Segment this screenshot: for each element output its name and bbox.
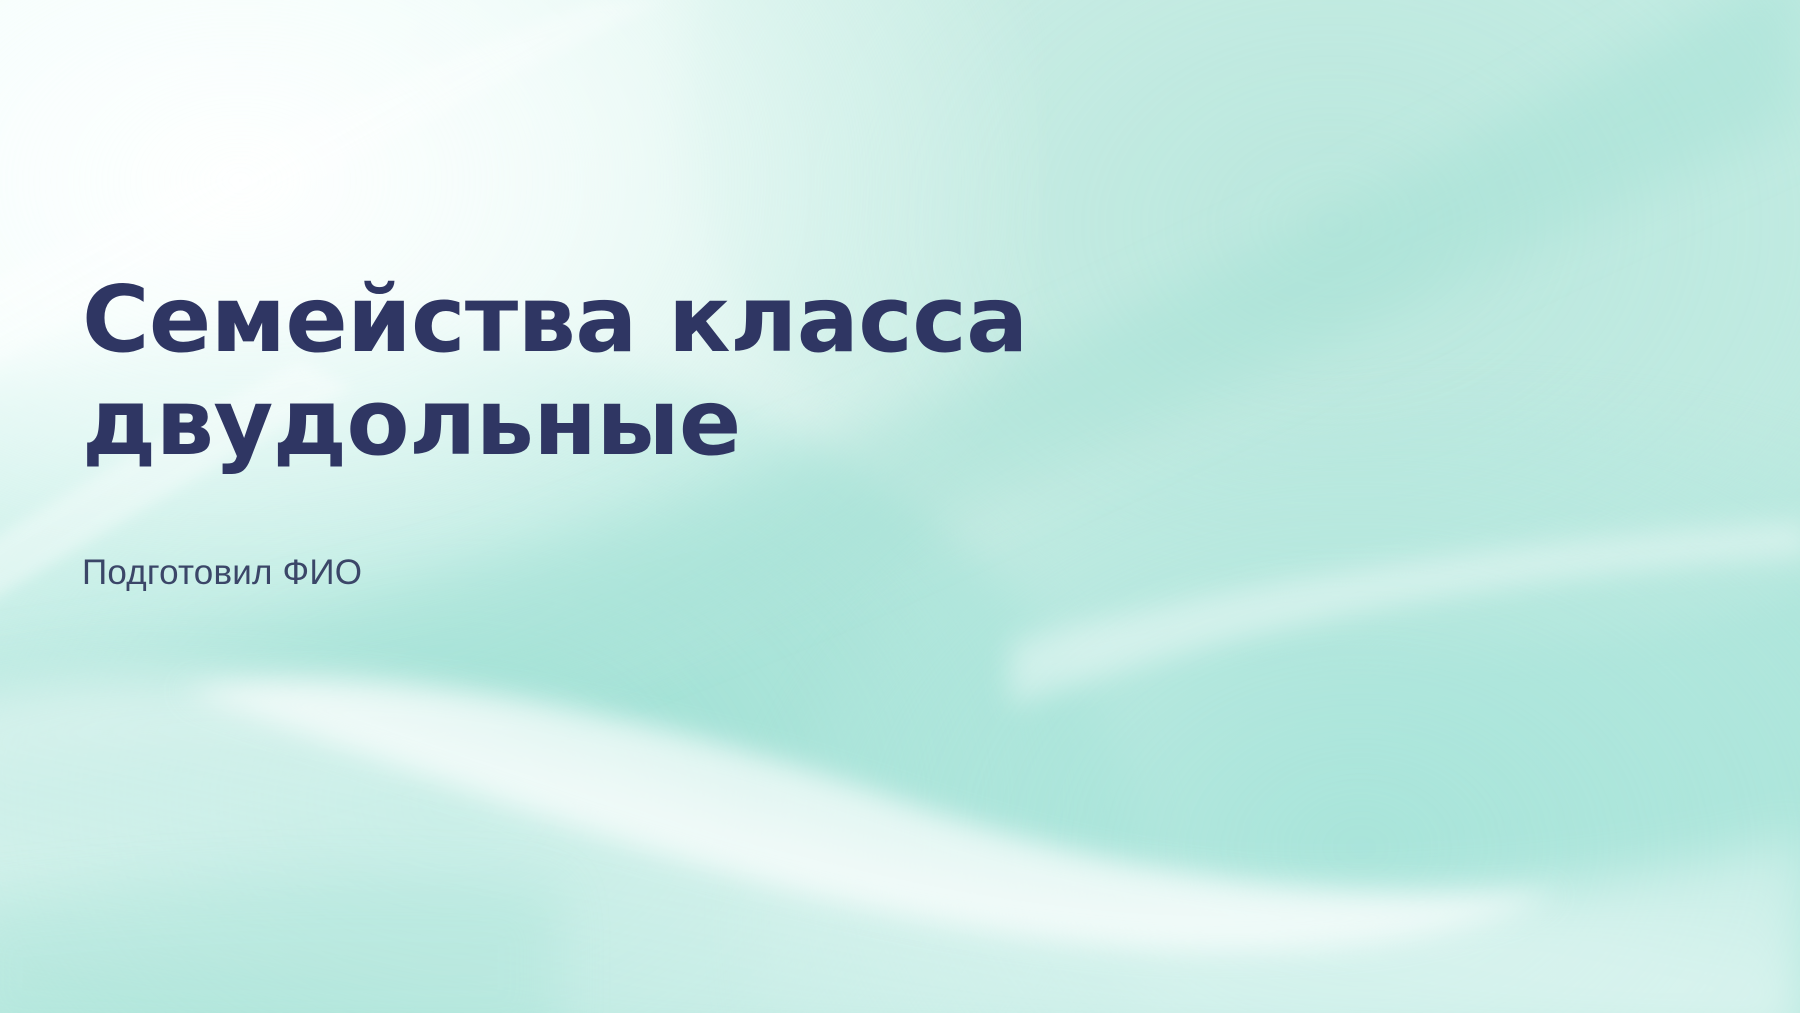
slide-subtitle: Подготовил ФИО xyxy=(82,474,1262,596)
slide-content: Семейства класса двудольные Подготовил Ф… xyxy=(82,268,1262,596)
wave-bottom-left-shade xyxy=(0,878,560,1013)
page-title: Семейства класса двудольные xyxy=(82,268,1262,474)
title-slide: Семейства класса двудольные Подготовил Ф… xyxy=(0,0,1800,1013)
